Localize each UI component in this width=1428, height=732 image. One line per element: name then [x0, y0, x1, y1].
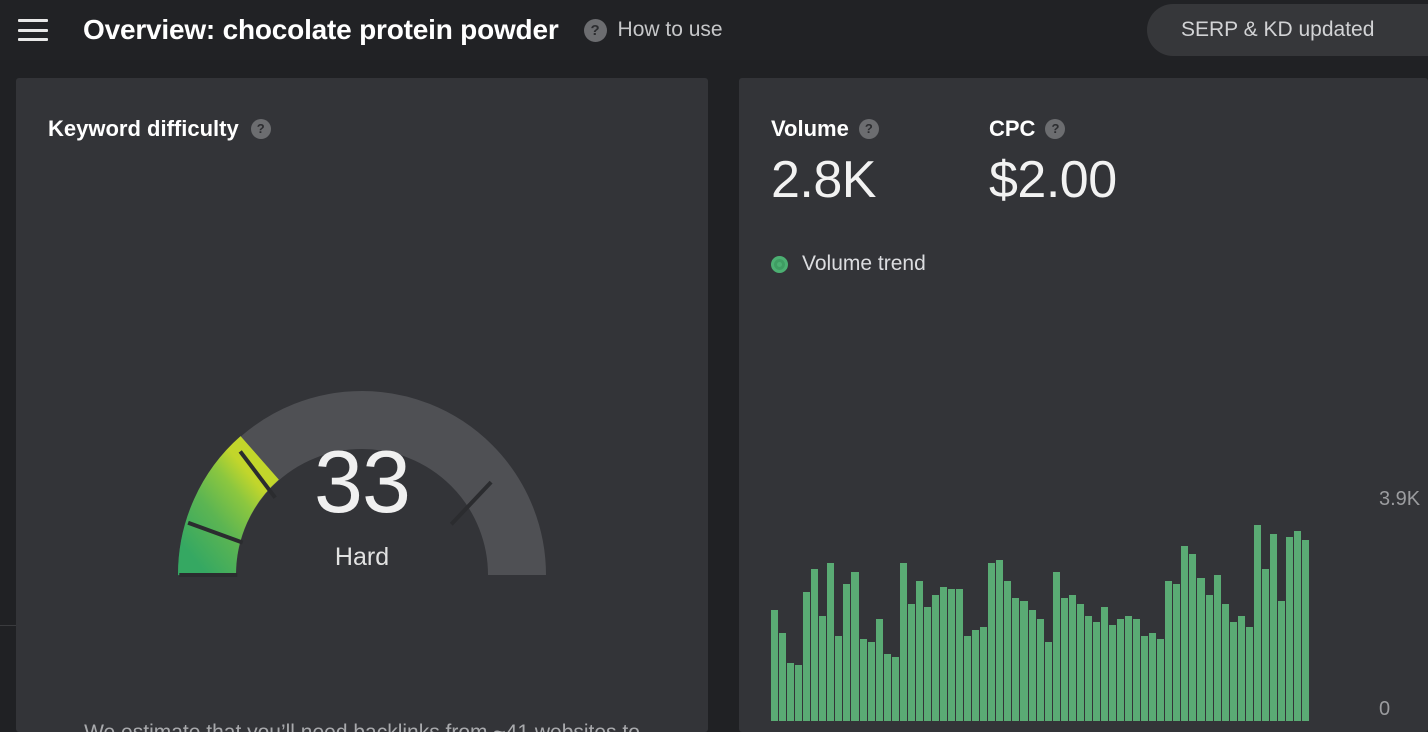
bar[interactable] [1189, 554, 1196, 721]
bar[interactable] [924, 607, 931, 721]
cpc-metric: CPC ? $2.00 [989, 116, 1117, 206]
bar[interactable] [1012, 598, 1019, 721]
bar[interactable] [1278, 601, 1285, 721]
question-circle-icon[interactable]: ? [251, 119, 271, 139]
question-circle-icon[interactable]: ? [1045, 119, 1065, 139]
how-to-use-link[interactable]: ? How to use [584, 18, 723, 42]
bar[interactable] [779, 633, 786, 721]
bar[interactable] [1133, 619, 1140, 721]
bar[interactable] [1077, 604, 1084, 721]
bar[interactable] [1085, 616, 1092, 721]
metrics-row: Volume ? 2.8K CPC ? $2.00 [771, 116, 1117, 206]
y-axis-max-label: 3.9K [1379, 488, 1420, 511]
bar[interactable] [1093, 622, 1100, 721]
bar[interactable] [811, 569, 818, 721]
bar[interactable] [835, 636, 842, 721]
bar[interactable] [1214, 575, 1221, 721]
bar[interactable] [1270, 534, 1277, 721]
serp-kd-updated-label: SERP & KD updated [1181, 18, 1374, 42]
volume-header: Volume ? [771, 116, 941, 142]
bar[interactable] [1165, 581, 1172, 721]
bar[interactable] [1254, 525, 1261, 721]
volume-trend-legend[interactable]: Volume trend [771, 252, 926, 276]
hamburger-line [18, 29, 48, 32]
bar[interactable] [876, 619, 883, 721]
volume-metric: Volume ? 2.8K [771, 116, 941, 206]
bar[interactable] [868, 642, 875, 721]
volume-label: Volume [771, 116, 849, 142]
legend-dot-icon [771, 256, 788, 273]
bar[interactable] [980, 627, 987, 721]
bar[interactable] [803, 592, 810, 721]
bar[interactable] [1181, 546, 1188, 721]
hamburger-icon[interactable] [18, 19, 48, 41]
left-rail [0, 60, 16, 732]
question-circle-icon[interactable]: ? [859, 119, 879, 139]
hamburger-line [18, 38, 48, 41]
page-title: Overview: chocolate protein powder [83, 14, 559, 46]
how-to-use-label: How to use [618, 18, 723, 42]
bar[interactable] [1222, 604, 1229, 721]
y-axis-min-label: 0 [1379, 698, 1390, 721]
bar[interactable] [964, 636, 971, 721]
keyword-difficulty-title: Keyword difficulty [48, 116, 239, 142]
bar[interactable] [988, 563, 995, 721]
top-bar: Overview: chocolate protein powder ? How… [0, 0, 1428, 60]
bar[interactable] [1302, 540, 1309, 721]
bar[interactable] [1037, 619, 1044, 721]
volume-cpc-card: Volume ? 2.8K CPC ? $2.00 Volume trend 3… [739, 78, 1428, 732]
cpc-value: $2.00 [989, 154, 1117, 206]
volume-value: 2.8K [771, 154, 941, 206]
bar[interactable] [851, 572, 858, 721]
bar[interactable] [787, 663, 794, 721]
bar[interactable] [1020, 601, 1027, 721]
cpc-header: CPC ? [989, 116, 1117, 142]
bar[interactable] [940, 587, 947, 721]
keyword-difficulty-rating: Hard [16, 543, 708, 572]
bar[interactable] [908, 604, 915, 721]
bar[interactable] [900, 563, 907, 721]
bar[interactable] [795, 665, 802, 721]
bar[interactable] [972, 630, 979, 721]
gauge-readout: 33 Hard [16, 438, 708, 572]
cpc-label: CPC [989, 116, 1035, 142]
bar[interactable] [827, 563, 834, 721]
bar[interactable] [1069, 595, 1076, 721]
bar[interactable] [771, 610, 778, 721]
bar[interactable] [1173, 584, 1180, 721]
bar-series [771, 493, 1309, 721]
bar[interactable] [1294, 531, 1301, 721]
bar[interactable] [1157, 639, 1164, 721]
bar[interactable] [1053, 572, 1060, 721]
keyword-difficulty-card: Keyword difficulty ? [16, 78, 708, 732]
bar[interactable] [1101, 607, 1108, 721]
bar[interactable] [1004, 581, 1011, 721]
bar[interactable] [860, 639, 867, 721]
bar[interactable] [1286, 537, 1293, 721]
app-page: Overview: chocolate protein powder ? How… [0, 0, 1428, 732]
bar[interactable] [1125, 616, 1132, 721]
bar[interactable] [1149, 633, 1156, 721]
volume-trend-chart[interactable]: 3.9K 0 [771, 343, 1309, 721]
keyword-difficulty-score: 33 [16, 438, 708, 526]
bar[interactable] [996, 560, 1003, 721]
question-circle-icon[interactable]: ? [584, 19, 607, 42]
keyword-difficulty-header: Keyword difficulty ? [48, 116, 271, 142]
bar[interactable] [1230, 622, 1237, 721]
hamburger-line [18, 19, 48, 22]
bar[interactable] [1238, 616, 1245, 721]
keyword-difficulty-note: We estimate that you’ll need backlinks f… [62, 718, 662, 732]
bar[interactable] [1197, 578, 1204, 721]
bar[interactable] [1246, 627, 1253, 721]
serp-kd-updated-pill[interactable]: SERP & KD updated [1147, 4, 1428, 56]
volume-trend-label: Volume trend [802, 252, 926, 276]
rail-divider [0, 625, 16, 626]
bar[interactable] [1262, 569, 1269, 721]
bar[interactable] [1061, 598, 1068, 721]
bar[interactable] [843, 584, 850, 721]
keyword-difficulty-gauge: 33 Hard [16, 310, 708, 610]
bar[interactable] [916, 581, 923, 721]
bar[interactable] [1141, 636, 1148, 721]
bar[interactable] [956, 589, 963, 721]
bar[interactable] [948, 589, 955, 721]
bar[interactable] [819, 616, 826, 721]
bar[interactable] [1206, 595, 1213, 721]
bar[interactable] [892, 657, 899, 721]
bar[interactable] [932, 595, 939, 721]
bar[interactable] [1109, 625, 1116, 721]
bar[interactable] [1117, 619, 1124, 721]
bar[interactable] [884, 654, 891, 721]
bar[interactable] [1029, 610, 1036, 721]
bar[interactable] [1045, 642, 1052, 721]
